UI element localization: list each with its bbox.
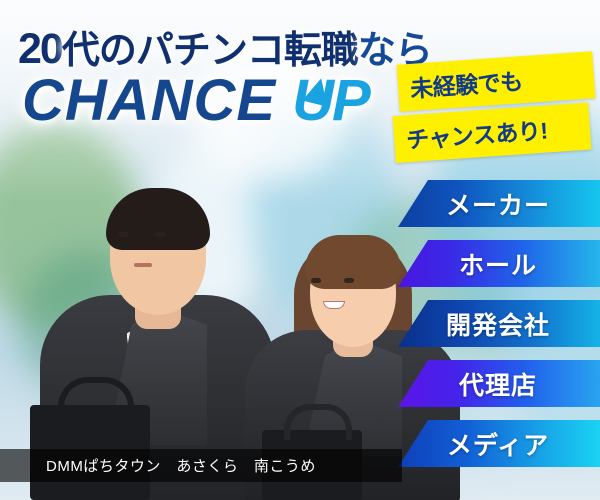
man-eye-right — [155, 232, 166, 237]
category-tag-maker[interactable]: メーカー — [398, 180, 600, 227]
category-tag-agency[interactable]: 代理店 — [398, 360, 600, 407]
man-mouth — [134, 263, 152, 267]
category-tag-label: ホール — [459, 246, 537, 282]
category-tag-label: メディア — [447, 426, 549, 462]
category-tag-hall[interactable]: ホール — [398, 240, 600, 287]
woman-eye-left — [311, 278, 321, 283]
credit-bar: DMMぱちタウン あさくら 南こうめ — [0, 449, 402, 482]
category-tag-media[interactable]: メディア — [398, 420, 600, 467]
category-tag-label: 代理店 — [459, 366, 537, 402]
headline-number: 20 — [18, 25, 62, 73]
category-tag-label: メーカー — [446, 186, 550, 222]
man-hair — [106, 188, 210, 250]
man-eye-left — [118, 232, 129, 237]
category-tag-list: メーカー ホール 開発会社 代理店 メディア — [398, 180, 600, 480]
promo-badge-line1: 未経験でも — [397, 51, 596, 112]
advertisement-banner[interactable]: 20代のパチンコ転職なら CHANCEUP 未経験でも チャンスあり! メーカー… — [0, 0, 600, 500]
promo-badge-line2: チャンスあり! — [393, 103, 592, 164]
logo-word: CHANCE — [22, 68, 276, 133]
promo-badge: 未経験でも チャンスあり! — [398, 58, 594, 156]
headline-main: 代のパチンコ転職 — [62, 30, 358, 72]
category-tag-label: 開発会社 — [446, 306, 550, 342]
credit-text: DMMぱちタウン あさくら 南こうめ — [46, 455, 316, 476]
category-tag-developer[interactable]: 開発会社 — [398, 300, 600, 347]
headline-text: 20代のパチンコ転職なら — [18, 19, 432, 74]
woman-eye-right — [344, 278, 354, 283]
